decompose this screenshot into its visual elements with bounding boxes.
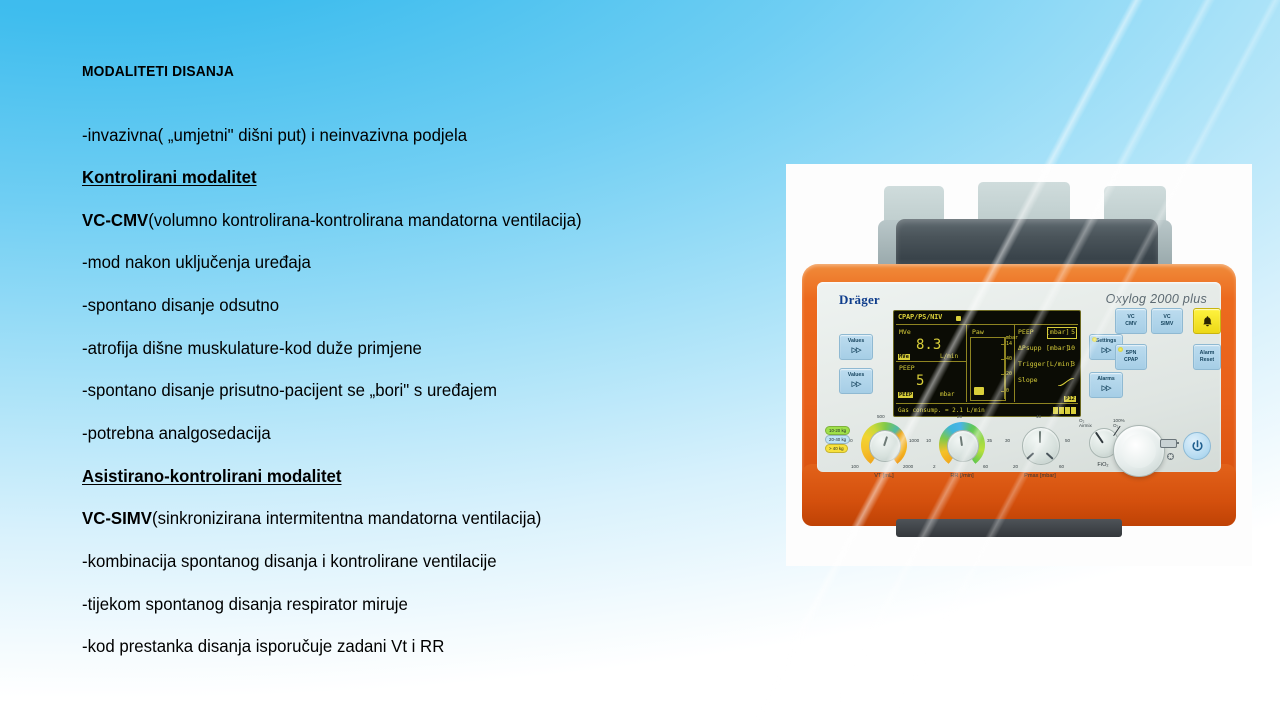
lcd-paw-axis: [1004, 337, 1005, 399]
lcd-paw-tick-3: [1001, 374, 1005, 375]
values-button-2[interactable]: Values ▷▷: [839, 368, 873, 394]
text-content-column: MODALITETI DISANJA -invazivna( „umjetni"…: [82, 64, 722, 679]
body-line-3: VC-CMV(volumno kontrolirana-kontrolirana…: [82, 210, 696, 231]
body-line-13: -kod prestanka disanja isporučuje zadani…: [82, 636, 696, 657]
lcd-set-psupp-name: ΔPsupp: [1018, 344, 1041, 352]
lcd-display[interactable]: CPAP/PS/NIV MVe 8.3 L/min MVe PEEP 5 mba…: [893, 310, 1081, 417]
bell-icon: [1201, 315, 1214, 328]
lcd-paw-tick-4: [1001, 391, 1005, 392]
weight-tag-2: 20-40 kg: [825, 435, 850, 444]
lcd-peep-value: 5: [916, 373, 924, 389]
weight-tag-3: > 40 kg: [825, 444, 848, 453]
power-icon: [1190, 439, 1205, 454]
power-button[interactable]: [1183, 432, 1211, 460]
body-line-8: -potrebna analgosedacija: [82, 423, 696, 444]
body-line-10-lead: VC-SIMV: [82, 508, 152, 528]
lcd-paw-tick-label-4: 0: [1006, 388, 1009, 394]
values-button-1[interactable]: Values ▷▷: [839, 334, 873, 360]
lcd-paw-tick-label-3: 20: [1006, 371, 1012, 377]
lcd-paw-label: Paw: [972, 328, 984, 336]
mode-button-vc-cmv-label1: VC: [1127, 314, 1134, 321]
lcd-set-peep-value: 5: [1071, 328, 1075, 336]
lcd-header-rule: [896, 324, 1078, 325]
body-line-1: -invazivna( „umjetni" dišni put) i neinv…: [82, 125, 696, 146]
body-line-7: -spontano disanje prisutno-pacijent se „…: [82, 380, 696, 401]
lcd-mve-label: MVe: [899, 328, 911, 336]
lcd-mve-tag: MVe: [898, 354, 910, 360]
slope-curve-icon: [1058, 378, 1074, 386]
knob-vt-top-label: 500: [877, 414, 885, 419]
mode-button-vc-simv-label1: VC: [1163, 314, 1170, 321]
control-faceplate: Dräger Oxylog 2000 plus CPAP/PS/NIV MVe …: [817, 282, 1221, 472]
ventilator-photo: Dräger Oxylog 2000 plus CPAP/PS/NIV MVe …: [786, 164, 1252, 566]
knob-vt-right-label: 1000: [909, 438, 919, 443]
knob-pmax-left-label: 30: [1005, 438, 1010, 443]
lcd-set-peep-unit: [mbar]: [1046, 328, 1069, 336]
settings-button-label: Settings: [1096, 338, 1116, 345]
lcd-corner-tag: P12: [1064, 396, 1076, 402]
body-line-6: -atrofija dišne muskulature-kod duže pri…: [82, 338, 696, 359]
knob-rr-name: RR [/min]: [932, 473, 992, 479]
values-button-1-label: Values: [848, 338, 864, 345]
lcd-set-psupp-value: 10: [1067, 344, 1075, 352]
alarms-button-label: Alarms: [1097, 376, 1115, 383]
knob-pmax-top-label: 40: [1036, 414, 1041, 419]
alarm-reset-button[interactable]: Alarm Reset: [1193, 344, 1221, 370]
mode-button-vc-simv[interactable]: VC SIMV: [1151, 308, 1183, 334]
body-line-3-rest: (volumno kontrolirana-kontrolirana manda…: [148, 210, 581, 230]
mode-button-vc-simv-label2: SIMV: [1161, 321, 1174, 328]
values-button-2-arrows-icon: ▷▷: [852, 380, 861, 389]
battery-status-icon: [1160, 439, 1177, 448]
alarms-button-arrows-icon: ▷▷: [1102, 384, 1111, 393]
lcd-footer-text: Gas consump. = 2.1 L/min: [898, 407, 985, 414]
mode-button-spn-cpap-label1: SPN: [1126, 350, 1137, 357]
values-button-2-label: Values: [848, 372, 864, 379]
knob-fio2-100pct-label: 100% O₂: [1113, 418, 1125, 428]
knob-fio2-airmix-label: O₂ Airmix: [1079, 418, 1092, 428]
weight-tag-1: 10-20 kg: [825, 426, 850, 435]
lcd-set-psupp-unit: [mbar]: [1046, 344, 1069, 352]
body-line-4: -mod nakon uključenja uređaja: [82, 252, 696, 273]
mode-button-vc-cmv[interactable]: VC CMV: [1115, 308, 1147, 334]
body-line-10-rest: (sinkronizirana intermitentna mandatorna…: [152, 508, 541, 528]
lcd-mve-value: 8.3: [916, 337, 941, 353]
lcd-mve-unit: L/min: [940, 353, 958, 360]
lcd-battery-gauge-icon: [1053, 407, 1076, 414]
alarm-reset-label2: Reset: [1200, 357, 1214, 364]
lcd-status-dot-icon: [956, 316, 961, 321]
lcd-paw-cursor-icon: [974, 387, 984, 395]
ventilator-device: Dräger Oxylog 2000 plus CPAP/PS/NIV MVe …: [786, 164, 1252, 566]
mains-plug-icon: [1166, 452, 1175, 461]
brand-logo: Dräger: [839, 292, 880, 308]
lcd-set-trigger-value: 3: [1071, 360, 1075, 368]
knob-pmax-name: Pmax [mbar]: [1010, 473, 1070, 479]
lcd-paw-tick-label-1: 14: [1006, 341, 1012, 347]
knob-pmax-min-label: 20: [1013, 464, 1018, 469]
knob-rr-right-label: 35: [987, 438, 992, 443]
rotary-selector-dial[interactable]: [1113, 425, 1165, 477]
knob-pmax-max-label: 60: [1059, 464, 1064, 469]
lcd-peep-unit: mbar: [940, 391, 954, 398]
body-line-9-heading: Asistirano-kontrolirani modalitet: [82, 466, 696, 487]
lcd-mode-header: CPAP/PS/NIV: [898, 313, 942, 321]
body-line-12: -tijekom spontanog disanja respirator mi…: [82, 594, 696, 615]
knob-rr-min-label: 2: [933, 464, 936, 469]
values-button-1-arrows-icon: ▷▷: [852, 346, 861, 355]
lcd-set-slope-name: Slope: [1018, 376, 1038, 384]
mode-button-vc-cmv-label2: CMV: [1125, 321, 1137, 328]
lcd-peep-label: PEEP: [899, 364, 915, 372]
settings-button-arrows-icon: ▷▷: [1102, 346, 1111, 355]
mode-button-spn-cpap-label2: CPAP: [1124, 357, 1138, 364]
lcd-set-trigger-unit: [L/min]: [1046, 360, 1073, 368]
knob-vt-max-label: 2000: [903, 464, 913, 469]
body-line-11: -kombinacija spontanog disanja i kontrol…: [82, 551, 696, 572]
knob-vt-min-label: 100: [851, 464, 859, 469]
lcd-divider-1: [966, 325, 967, 402]
body-line-3-lead: VC-CMV: [82, 210, 148, 230]
lcd-set-peep-name: PEEP: [1018, 328, 1034, 336]
lcd-set-trigger-name: Trigger: [1018, 360, 1045, 368]
lcd-paw-tick-2: [1001, 359, 1005, 360]
slide-title: MODALITETI DISANJA: [82, 64, 671, 81]
knob-rr-max-label: 60: [983, 464, 988, 469]
knob-vt-name: VT [mL]: [854, 473, 914, 479]
body-line-5: -spontano disanje odsutno: [82, 295, 696, 316]
device-foot: [896, 519, 1122, 537]
knob-rr-left-label: 10: [926, 438, 931, 443]
knob-rr-top-label: 20: [957, 414, 962, 419]
lcd-divider-3: [896, 361, 966, 362]
model-name: Oxylog 2000 plus: [1106, 292, 1207, 306]
lcd-paw-tick-label-2: 40: [1006, 356, 1012, 362]
lcd-paw-tick-1: [1001, 344, 1005, 345]
knob-pmax-right-label: 50: [1065, 438, 1070, 443]
alarm-reset-label1: Alarm: [1200, 350, 1215, 357]
slide-canvas: MODALITETI DISANJA -invazivna( „umjetni"…: [0, 0, 1280, 720]
body-line-10: VC-SIMV(sinkronizirana intermitentna man…: [82, 508, 696, 529]
mode-button-spn-cpap[interactable]: SPN CPAP: [1115, 344, 1147, 370]
lcd-peep-tag: PEEP: [898, 392, 913, 398]
alarm-silence-button[interactable]: [1193, 308, 1221, 334]
alarms-button[interactable]: Alarms ▷▷: [1089, 372, 1123, 398]
body-line-2-heading: Kontrolirani modalitet: [82, 167, 696, 188]
